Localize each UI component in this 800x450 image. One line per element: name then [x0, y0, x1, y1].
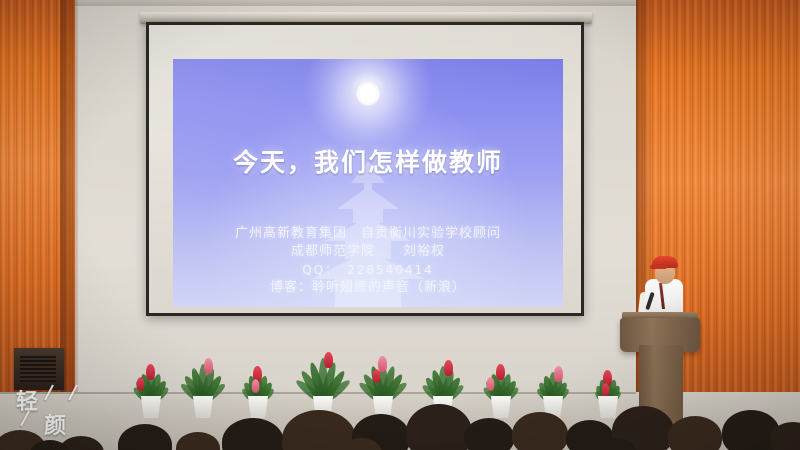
plant-pot: [596, 396, 620, 418]
audience-head: [512, 412, 568, 450]
plant-pot: [139, 396, 163, 418]
potted-plant: [360, 364, 406, 418]
audience-head: [464, 418, 514, 450]
plant-flower: [554, 366, 563, 382]
slide-subtitle-line-1: 广州高新教育集团 自贡衡川实验学校顾问: [173, 225, 563, 243]
plant-flower: [444, 360, 453, 376]
projection-screen-frame: 今天，我们怎样做教师 广州高新教育集团 自贡衡川实验学校顾问 成都师范学院 刘裕…: [146, 22, 584, 316]
presentation-slide: 今天，我们怎样做教师 广州高新教育集团 自贡衡川实验学校顾问 成都师范学院 刘裕…: [173, 59, 563, 307]
potted-plant: [235, 374, 281, 418]
plant-flower: [146, 364, 155, 380]
slide-subtitle-line-2: 成都师范学院 刘裕权: [173, 243, 563, 261]
presenter-cap-brim: [650, 265, 667, 269]
slide-subtitle-block: 广州高新教育集团 自贡衡川实验学校顾问 成都师范学院 刘裕权 QQ： 22854…: [173, 225, 563, 297]
moon-glow-icon: [355, 81, 381, 107]
plant-pot: [246, 396, 270, 418]
plant-flower: [602, 383, 610, 397]
plant-flower: [378, 356, 387, 372]
potted-plant: [478, 372, 524, 418]
slide-blog-line: 博客：聆听翅膀的声音（新浪）: [173, 279, 563, 297]
plant-flower: [252, 379, 260, 393]
slide-qq-line: QQ： 228540414: [173, 262, 563, 279]
speaker-grill: [20, 356, 56, 382]
stage-curtain-left: [0, 0, 75, 392]
stage-speaker-cabinet: [14, 348, 64, 390]
plant-flower: [324, 352, 333, 368]
plant-flower: [137, 377, 145, 391]
plant-flower: [204, 358, 213, 374]
potted-plant: [180, 366, 226, 418]
potted-plant: [128, 372, 174, 418]
plant-pot: [489, 396, 513, 418]
plant-flower: [496, 364, 505, 380]
plant-flower: [487, 377, 495, 391]
projection-screen-surface: 今天，我们怎样做教师 广州高新教育集团 自贡衡川实验学校顾问 成都师范学院 刘裕…: [149, 25, 581, 313]
audience-head: [668, 416, 722, 450]
screenshot-root: 今天，我们怎样做教师 广州高新教育集团 自贡衡川实验学校顾问 成都师范学院 刘裕…: [0, 0, 800, 450]
plant-flower: [373, 369, 381, 383]
plant-pot: [191, 396, 215, 418]
curtain-fold-shadow-left: [60, 0, 78, 392]
slide-title: 今天，我们怎样做教师: [173, 143, 563, 179]
